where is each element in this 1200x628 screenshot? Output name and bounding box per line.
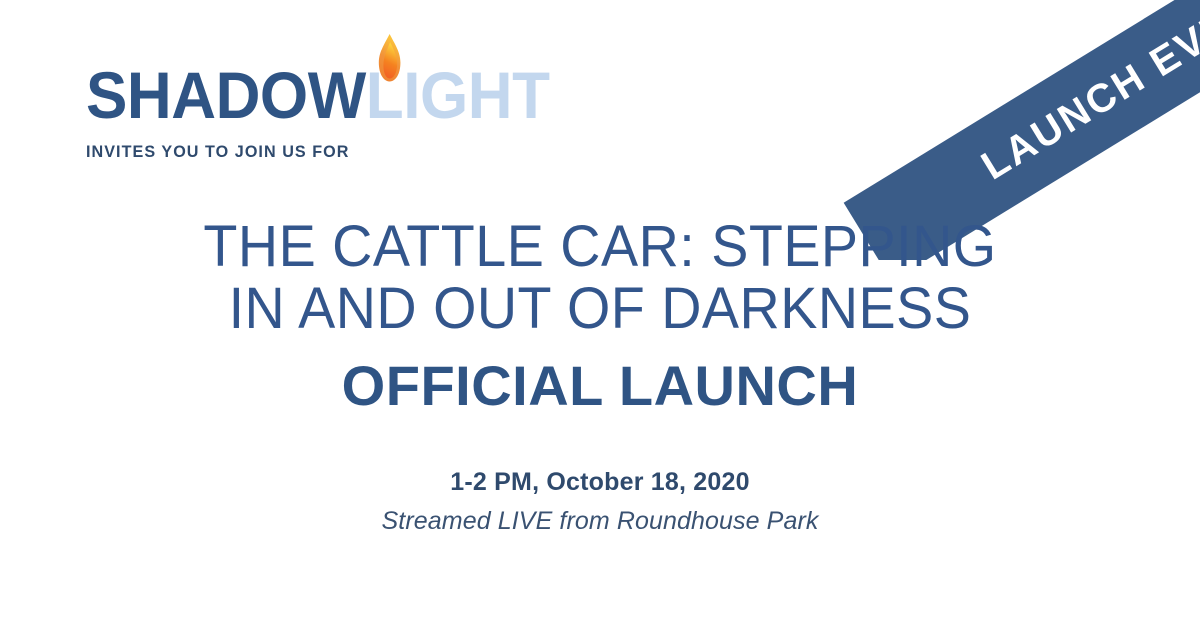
ribbon-label: LAUNCH EVENT xyxy=(974,0,1200,189)
flame-icon xyxy=(377,26,401,74)
brand-wordmark: SHADOWLIGHT xyxy=(86,62,550,128)
event-announcement-poster: LAUNCH EVENT SHADOWLIGHT xyxy=(0,0,1200,628)
brand-logo: SHADOWLIGHT xyxy=(86,62,579,162)
event-date-time: 1-2 PM, October 18, 2020 xyxy=(0,468,1200,497)
headline-line-2: IN AND OUT OF DARKNESS xyxy=(24,278,1176,340)
event-headline: THE CATTLE CAR: STEPPING IN AND OUT OF D… xyxy=(0,216,1200,340)
wordmark-shadow: SHADOW xyxy=(86,58,366,132)
event-venue: Streamed LIVE from Roundhouse Park xyxy=(0,507,1200,536)
event-subheadline: OFFICIAL LAUNCH xyxy=(0,353,1200,418)
event-details: 1-2 PM, October 18, 2020 Streamed LIVE f… xyxy=(0,468,1200,536)
headline-line-1: THE CATTLE CAR: STEPPING xyxy=(24,216,1176,278)
logo-tagline: INVITES YOU TO JOIN US FOR xyxy=(86,142,554,162)
